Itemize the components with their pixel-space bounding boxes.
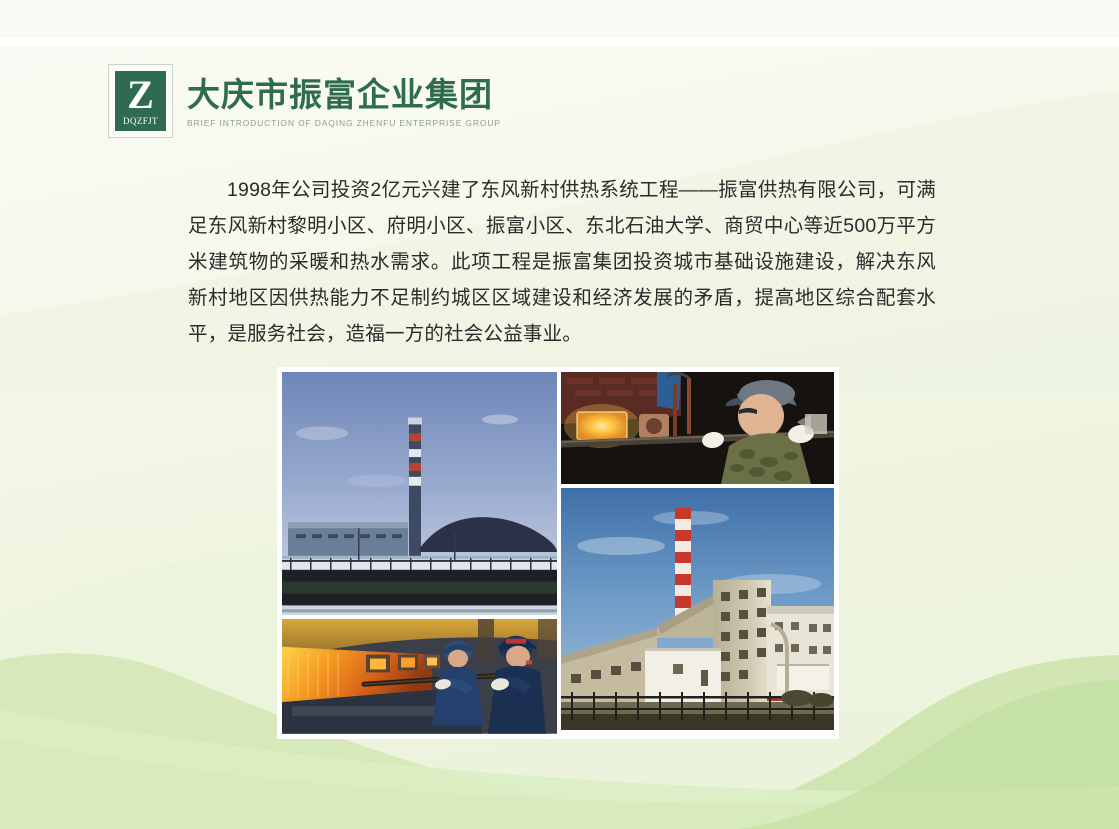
photo-collage bbox=[277, 367, 839, 739]
logo-abbreviation: DQZFJT bbox=[123, 116, 158, 126]
photo-worker-furnace-night bbox=[561, 372, 834, 484]
slide-page: Z DQZFJT 大庆市振富企业集团 BRIEF INTRODUCTION OF… bbox=[0, 0, 1119, 829]
company-name-en: BRIEF INTRODUCTION OF DAQING ZHENFU ENTE… bbox=[187, 118, 501, 128]
top-band bbox=[0, 0, 1119, 38]
company-name-cn: 大庆市振富企业集团 bbox=[187, 76, 501, 114]
collage-right-column bbox=[561, 372, 834, 734]
collage-left-column bbox=[282, 372, 557, 734]
logo-inner-frame: Z DQZFJT bbox=[113, 69, 168, 133]
photo-plant-exterior-wide bbox=[282, 372, 557, 615]
body-paragraph: 1998年公司投资2亿元兴建了东风新村供热系统工程——振富供热有限公司，可满足东… bbox=[188, 172, 936, 352]
brand-header: Z DQZFJT 大庆市振富企业集团 BRIEF INTRODUCTION OF… bbox=[108, 64, 501, 138]
photo-two-workers-furnace bbox=[282, 619, 557, 734]
logo-letter-z: Z bbox=[127, 75, 154, 115]
brand-title-block: 大庆市振富企业集团 BRIEF INTRODUCTION OF DAQING Z… bbox=[187, 64, 501, 128]
company-logo-icon: Z DQZFJT bbox=[108, 64, 173, 138]
top-divider bbox=[0, 38, 1119, 46]
photo-boiler-house-exterior bbox=[561, 488, 834, 730]
